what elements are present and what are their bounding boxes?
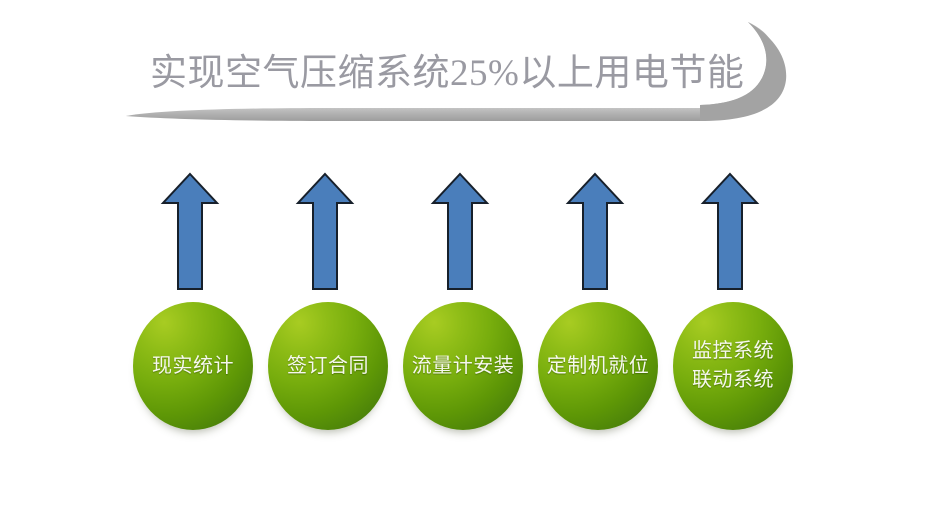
process-step-label-5: 监控系统 联动系统 xyxy=(692,337,774,395)
process-arrow-1 xyxy=(160,172,220,292)
process-step-label-2: 签订合同 xyxy=(287,353,369,379)
process-step-label-4-line-1: 定制机就位 xyxy=(547,353,650,379)
process-step-bubble-2[interactable]: 签订合同 xyxy=(268,302,388,430)
process-step-bubble-5[interactable]: 监控系统 联动系统 xyxy=(673,302,793,430)
process-step-label-2-line-1: 签订合同 xyxy=(287,353,369,379)
process-step-bubble-3[interactable]: 流量计安装 xyxy=(403,302,523,430)
process-step-label-5-line-1: 监控系统 xyxy=(692,337,774,366)
process-arrow-4 xyxy=(565,172,625,292)
page-title: 实现空气压缩系统25%以上用电节能 xyxy=(150,47,750,101)
process-step-bubble-1[interactable]: 现实统计 xyxy=(133,302,253,430)
process-step-label-5-line-2: 联动系统 xyxy=(692,366,774,395)
process-step-label-3: 流量计安装 xyxy=(412,353,515,379)
process-arrow-5 xyxy=(700,172,760,292)
process-step-label-1: 现实统计 xyxy=(152,353,234,379)
banner-ribbon-shape xyxy=(0,0,945,160)
process-step-label-3-line-1: 流量计安装 xyxy=(412,353,515,379)
process-step-label-4: 定制机就位 xyxy=(547,353,650,379)
process-step-bubble-4[interactable]: 定制机就位 xyxy=(538,302,658,430)
process-arrow-2 xyxy=(295,172,355,292)
process-arrow-3 xyxy=(430,172,490,292)
title-banner: 实现空气压缩系统25%以上用电节能 xyxy=(0,0,945,160)
slide-canvas: 实现空气压缩系统25%以上用电节能 现实统计 签订合同 流量计安装 xyxy=(0,0,945,529)
process-step-label-1-line-1: 现实统计 xyxy=(152,353,234,379)
